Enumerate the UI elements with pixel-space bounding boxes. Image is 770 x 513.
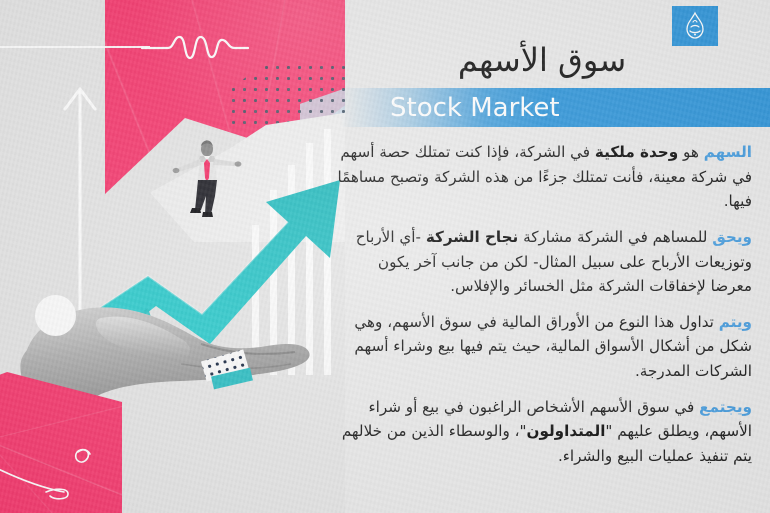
al-jazeera-logo-icon <box>680 11 710 41</box>
paragraph-3: ويتم تداول هذا النوع من الأوراق المالية … <box>334 310 752 384</box>
paragraph-2: ويحق للمساهم في الشركة مشاركة نجاح الشرك… <box>334 225 752 299</box>
page-title-arabic: سوق الأسهم <box>332 42 752 79</box>
al-jazeera-logo <box>672 6 718 46</box>
article-body: السهم هو وحدة ملكية في الشركة، فإذا كنت … <box>334 140 752 469</box>
white-circle-accent <box>35 295 76 336</box>
paragraph-4-bold: المتداولون <box>527 422 606 440</box>
paragraph-3-lead: تداول هذا النوع من الأوراق المالية في سو… <box>354 313 752 380</box>
stock-market-collage <box>0 0 345 513</box>
businessman-figure <box>170 140 242 218</box>
paragraph-4-accent: ويجتمع <box>699 398 752 416</box>
paragraph-1: السهم هو وحدة ملكية في الشركة، فإذا كنت … <box>334 140 752 214</box>
paragraph-2-bold: نجاح الشركة <box>426 228 518 246</box>
paragraph-1-lead: هو <box>678 143 704 161</box>
paragraph-3-accent: ويتم <box>719 313 752 331</box>
sleeve-doodle-icon <box>0 430 106 500</box>
white-rule-line <box>0 46 150 48</box>
paragraph-2-lead: للمساهم في الشركة مشاركة <box>518 228 712 246</box>
paragraph-2-accent: ويحق <box>712 228 752 246</box>
white-squiggle-icon <box>140 28 250 68</box>
paragraph-1-bold: وحدة ملكية <box>595 143 678 161</box>
paragraph-4: ويجتمع في سوق الأسهم الأشخاص الراغبون في… <box>334 395 752 469</box>
page-title-english: Stock Market <box>390 92 750 125</box>
infographic-canvas: سوق الأسهم Stock Market السهم هو وحدة مل… <box>0 0 770 513</box>
paragraph-1-accent: السهم <box>704 143 752 161</box>
